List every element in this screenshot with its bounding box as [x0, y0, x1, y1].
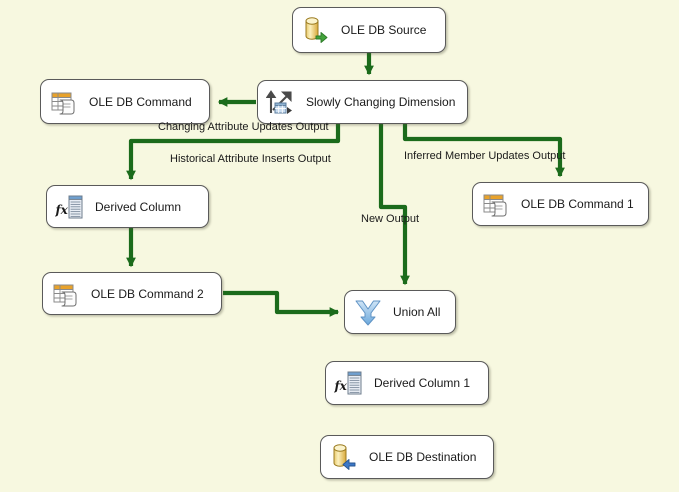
scd-arrows-icon — [266, 87, 296, 117]
node-ole-db-command[interactable]: OLE DB Command — [40, 79, 210, 124]
edge-label-inferred-member-updates-output: Inferred Member Updates Output — [404, 150, 565, 162]
node-label: Derived Column — [89, 200, 195, 214]
node-ole-db-destination[interactable]: OLE DB Destination — [320, 435, 494, 479]
wire-scd-to-union-all — [381, 124, 405, 284]
node-label: OLE DB Command — [83, 95, 206, 109]
node-derived-column[interactable]: fx Derived Column — [46, 185, 209, 228]
node-label: Union All — [387, 305, 454, 319]
node-label: Slowly Changing Dimension — [300, 95, 469, 109]
node-label: OLE DB Source — [335, 23, 440, 37]
node-label: OLE DB Destination — [363, 450, 490, 464]
database-out-icon — [301, 15, 331, 45]
node-label: OLE DB Command 1 — [515, 197, 648, 211]
edge-label-changing-attribute-updates-output: Changing Attribute Updates Output — [158, 121, 329, 133]
node-slowly-changing-dimension[interactable]: Slowly Changing Dimension — [257, 80, 468, 124]
node-derived-column-1[interactable]: fx Derived Column 1 — [325, 361, 489, 405]
svg-text:fx: fx — [55, 203, 69, 217]
node-label: OLE DB Command 2 — [85, 287, 218, 301]
edge-label-new-output: New Output — [361, 213, 419, 225]
table-script-icon — [49, 87, 79, 117]
union-all-icon — [353, 297, 383, 327]
fx-column-icon: fx — [55, 192, 85, 222]
data-flow-canvas[interactable]: OLE DB Source OLE DB Command — [0, 0, 679, 492]
node-ole-db-command-1[interactable]: OLE DB Command 1 — [472, 182, 649, 226]
table-script-icon — [481, 189, 511, 219]
node-ole-db-command-2[interactable]: OLE DB Command 2 — [42, 272, 222, 315]
wire-command-2-to-union-all — [223, 293, 338, 312]
node-label: Derived Column 1 — [368, 376, 484, 390]
table-script-icon — [51, 279, 81, 309]
node-union-all[interactable]: Union All — [344, 290, 456, 334]
database-in-icon — [329, 442, 359, 472]
svg-text:fx: fx — [334, 379, 348, 393]
node-ole-db-source[interactable]: OLE DB Source — [292, 7, 446, 53]
connector-layer — [0, 0, 679, 492]
edge-label-historical-attribute-inserts-output: Historical Attribute Inserts Output — [170, 153, 331, 165]
fx-column-icon: fx — [334, 368, 364, 398]
